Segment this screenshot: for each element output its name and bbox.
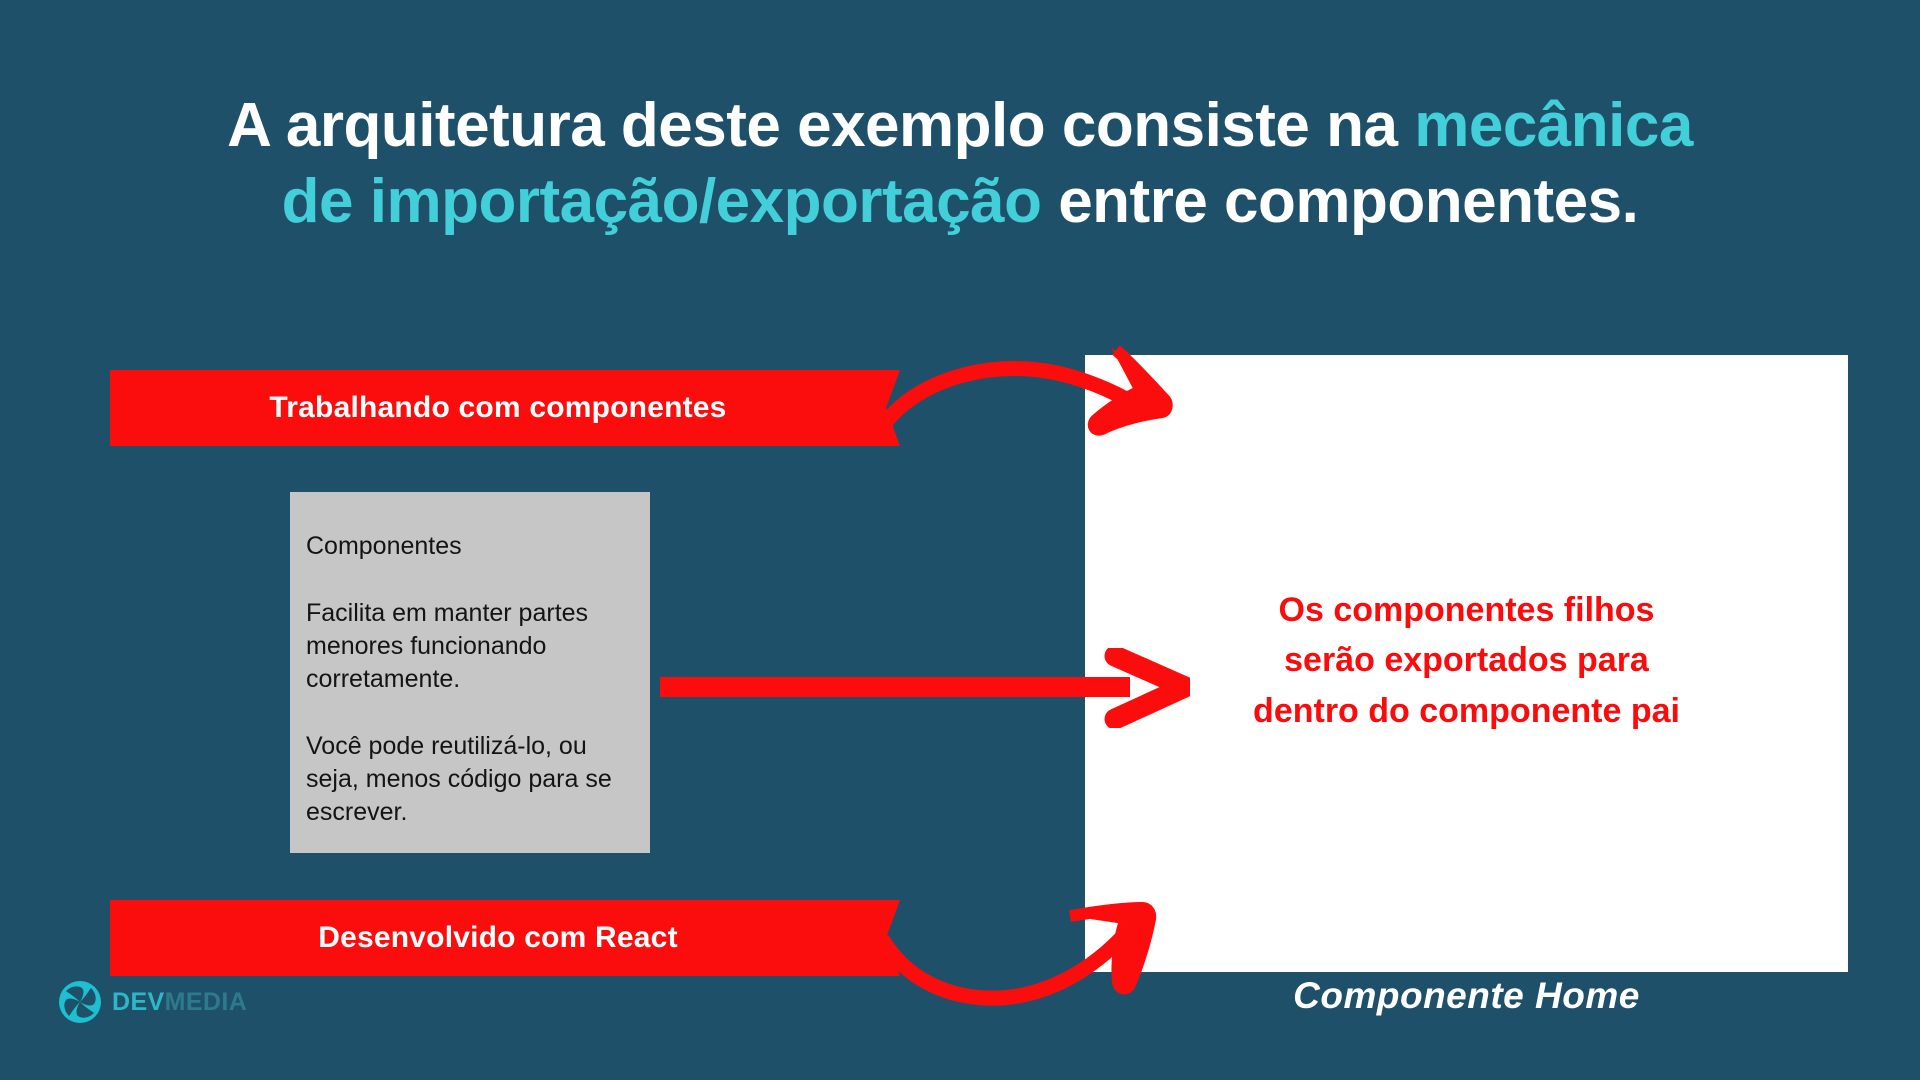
logo-text-media: MEDIA [165,988,248,1016]
panel-message-line-3: dentro do componente pai [1253,686,1680,736]
devmedia-logo-text: DEVMEDIA [112,988,247,1017]
gray-box-paragraph-2: Você pode reutilizá-lo, ou seja, menos c… [306,730,624,829]
title-highlight-mecanica: mecânica [1414,91,1693,160]
panel-message-line-1: Os componentes filhos [1253,585,1680,635]
title-highlight-importacao-exportacao: de importação/exportação [282,167,1042,236]
title-line-1-text: A arquitetura deste exemplo consiste na [227,91,1414,160]
title-line-2: de importação/exportação entre component… [0,164,1920,240]
banner-top-label: Trabalhando com componentes [269,391,740,425]
gray-box-paragraph-1: Facilita em manter partes menores funcio… [306,597,624,696]
title-line-1: A arquitetura deste exemplo consiste na … [0,88,1920,164]
componente-home-panel: Os componentes filhos serão exportados p… [1085,355,1848,972]
panel-message: Os componentes filhos serão exportados p… [1253,585,1680,736]
page-title: A arquitetura deste exemplo consiste na … [0,88,1920,239]
banner-desenvolvido-com-react: Desenvolvido com React [110,900,900,976]
componentes-description-box: Componentes Facilita em manter partes me… [290,492,650,853]
devmedia-logo: DEVMEDIA [58,980,247,1024]
logo-text-dev: DEV [112,988,165,1016]
slide-canvas: A arquitetura deste exemplo consiste na … [0,0,1920,1080]
panel-message-line-2: serão exportados para [1253,635,1680,685]
componente-home-caption: Componente Home [1085,975,1848,1017]
banner-trabalhando-com-componentes: Trabalhando com componentes [110,370,900,446]
title-line-2-text: entre componentes. [1041,167,1638,236]
banner-bottom-label: Desenvolvido com React [318,921,692,955]
gray-box-heading: Componentes [306,530,624,563]
devmedia-logo-icon [58,980,102,1024]
